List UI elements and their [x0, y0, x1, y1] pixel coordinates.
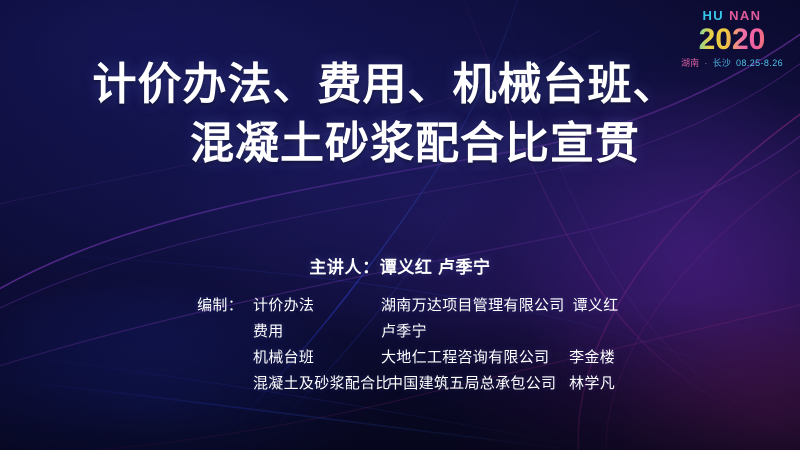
- credit-row: 机械台班 大地仁工程咨询有限公司 李金楼: [185, 346, 615, 367]
- credit-topic: 计价办法: [243, 294, 381, 315]
- presentation-slide: HU NAN 2020 湖南 · 长沙 08.25-8.26 计价办法、费用、机…: [0, 0, 800, 450]
- credits-label: 编制：: [185, 294, 243, 315]
- logo-year: 2020: [678, 25, 786, 55]
- credit-topic: 费用: [243, 320, 381, 341]
- logo-nan-text: NAN: [729, 8, 761, 23]
- credit-row: 混凝土及砂浆配合比 中国建筑五局总承包公司 林学凡: [185, 372, 615, 393]
- logo-hu-text: HU: [703, 8, 725, 23]
- credit-topic: 机械台班: [243, 346, 381, 367]
- title-line-1: 计价办法、费用、机械台班、: [0, 55, 800, 114]
- credit-topic: 混凝土及砂浆配合比: [243, 372, 388, 393]
- credit-organization: 卢季宁: [381, 320, 607, 341]
- credit-row: 费用 卢季宁: [185, 320, 615, 341]
- credit-organization: 大地仁工程咨询有限公司: [381, 346, 561, 367]
- title-line-2: 混凝土砂浆配合比宣贯: [0, 114, 800, 173]
- presenter-line: 主讲人：谭义红 卢季宁: [0, 253, 800, 278]
- slide-title: 计价办法、费用、机械台班、 混凝土砂浆配合比宣贯: [0, 55, 800, 174]
- credit-organization: 湖南万达项目管理有限公司: [381, 294, 565, 315]
- credit-person: 李金楼: [561, 346, 615, 367]
- credits-block: 编制： 计价办法 湖南万达项目管理有限公司 谭义红 费用 卢季宁 机械台班 大地…: [0, 294, 800, 393]
- logo-hunan-text: HU NAN: [678, 9, 786, 22]
- credit-person: 林学凡: [561, 372, 615, 393]
- credit-row: 编制： 计价办法 湖南万达项目管理有限公司 谭义红: [185, 294, 615, 315]
- credit-person: 谭义红: [565, 294, 619, 315]
- credit-organization: 中国建筑五局总承包公司: [388, 372, 561, 393]
